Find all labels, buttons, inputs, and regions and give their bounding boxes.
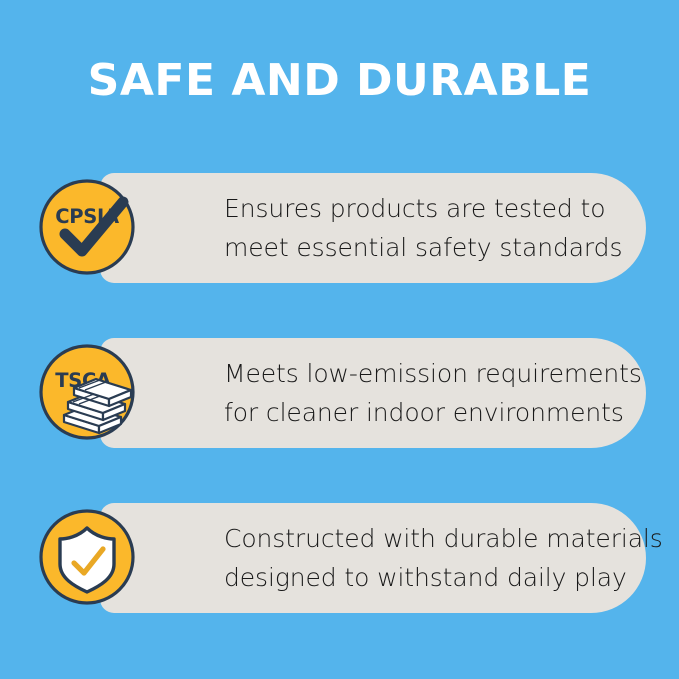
feature-text: Meets low-emission requirements for clea… (224, 354, 679, 432)
feature-row-cpsia: Ensures products are tested to meet esse… (38, 172, 648, 284)
page-title: SAFE AND DURABLE (0, 55, 679, 107)
badge-shield (38, 508, 136, 606)
feature-text-line-1: Constructed with durable materials (224, 519, 679, 558)
feature-card: Meets low-emission requirements for clea… (100, 338, 646, 448)
infographic-poster: SAFE AND DURABLE Ensures products are te… (0, 0, 679, 679)
feature-text-line-1: Ensures products are tested to (224, 189, 679, 228)
badge-tsca: TSCA (38, 343, 136, 441)
feature-text-line-1: Meets low-emission requirements (224, 354, 679, 393)
badge-cpsia: CPSIA (38, 178, 136, 276)
feature-row-durable: Constructed with durable materials desig… (38, 502, 648, 614)
feature-text-line-2: meet essential safety standards (224, 228, 679, 267)
lumber-stack-icon (64, 379, 131, 433)
feature-text: Constructed with durable materials desig… (224, 519, 679, 597)
feature-text-line-2: designed to withstand daily play (224, 558, 679, 597)
shield-check-icon (60, 528, 114, 592)
feature-card: Ensures products are tested to meet esse… (100, 173, 646, 283)
feature-row-tsca: Meets low-emission requirements for clea… (38, 337, 648, 449)
feature-text-line-2: for cleaner indoor environments (224, 393, 679, 432)
feature-text: Ensures products are tested to meet esse… (224, 189, 679, 267)
feature-card: Constructed with durable materials desig… (100, 503, 646, 613)
